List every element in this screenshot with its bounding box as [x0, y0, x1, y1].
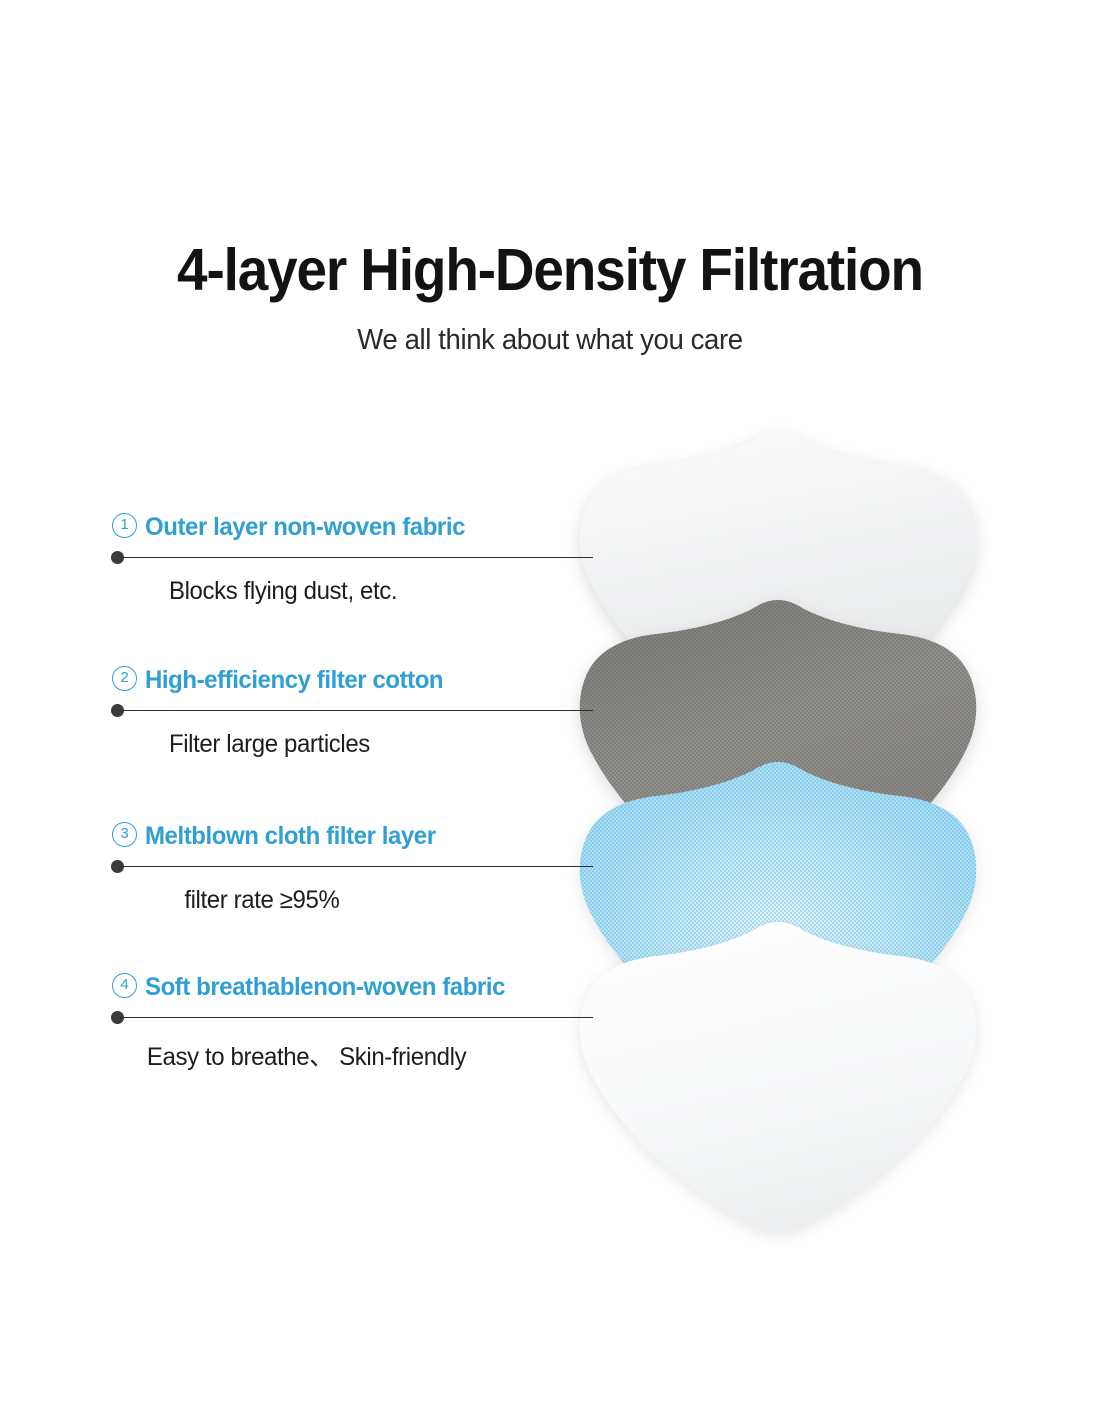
leader-line: [120, 557, 593, 558]
callout-1-description: Blocks flying dust, etc.: [0, 577, 595, 606]
leader-line: [120, 866, 593, 867]
header: 4-layer High-Density Filtration We all t…: [0, 240, 1100, 357]
callout-layer-1: 1 Outer layer non-woven fabric Blocks fl…: [0, 510, 620, 606]
callout-3-description: filter rate ≥95%: [0, 886, 595, 915]
leader-line: [120, 1017, 593, 1018]
callout-layer-4: 4 Soft breathablenon-woven fabric Easy t…: [0, 970, 620, 1073]
callout-3-leader: [0, 857, 620, 875]
page-subtitle: We all think about what you care: [28, 324, 1073, 357]
callout-2-description: Filter large particles: [0, 730, 595, 759]
callout-1-title: Outer layer non-woven fabric: [145, 513, 465, 542]
callout-4-title: Soft breathablenon-woven fabric: [145, 973, 505, 1002]
callout-3-heading: 3 Meltblown cloth filter layer: [0, 819, 620, 851]
callout-4-heading: 4 Soft breathablenon-woven fabric: [0, 970, 620, 1002]
circled-number-3-icon: 3: [112, 822, 137, 847]
callout-2-heading: 2 High-efficiency filter cotton: [0, 663, 620, 695]
callout-4-leader: [0, 1008, 620, 1026]
callout-3-title: Meltblown cloth filter layer: [145, 822, 436, 851]
page-title: 4-layer High-Density Filtration: [39, 240, 1062, 302]
callout-2-leader: [0, 701, 620, 719]
mask-layer-4-inner-white: [580, 922, 977, 1232]
circled-number-4-icon: 4: [112, 973, 137, 998]
circled-number-1-icon: 1: [112, 513, 137, 538]
leader-line: [120, 710, 593, 711]
mask-layer-2-filter-cotton: [580, 600, 977, 910]
callout-layer-3: 3 Meltblown cloth filter layer filter ra…: [0, 819, 620, 915]
circled-number-4-digit: 4: [113, 974, 136, 997]
callout-1-leader: [0, 548, 620, 566]
mask-layer-1-outer-white: [580, 432, 977, 742]
infographic-page: 4-layer High-Density Filtration We all t…: [0, 0, 1100, 1422]
mask-layer-3-meltblown-blue: [580, 762, 977, 1072]
callout-2-title: High-efficiency filter cotton: [145, 666, 443, 695]
callout-4-description: Easy to breathe、 Skin-friendly: [0, 1037, 595, 1073]
callout-layer-2: 2 High-efficiency filter cotton Filter l…: [0, 663, 620, 759]
circled-number-2-icon: 2: [112, 666, 137, 691]
circled-number-1-digit: 1: [113, 514, 136, 537]
circled-number-2-digit: 2: [113, 667, 136, 690]
circled-number-3-digit: 3: [113, 823, 136, 846]
callout-1-heading: 1 Outer layer non-woven fabric: [0, 510, 620, 542]
